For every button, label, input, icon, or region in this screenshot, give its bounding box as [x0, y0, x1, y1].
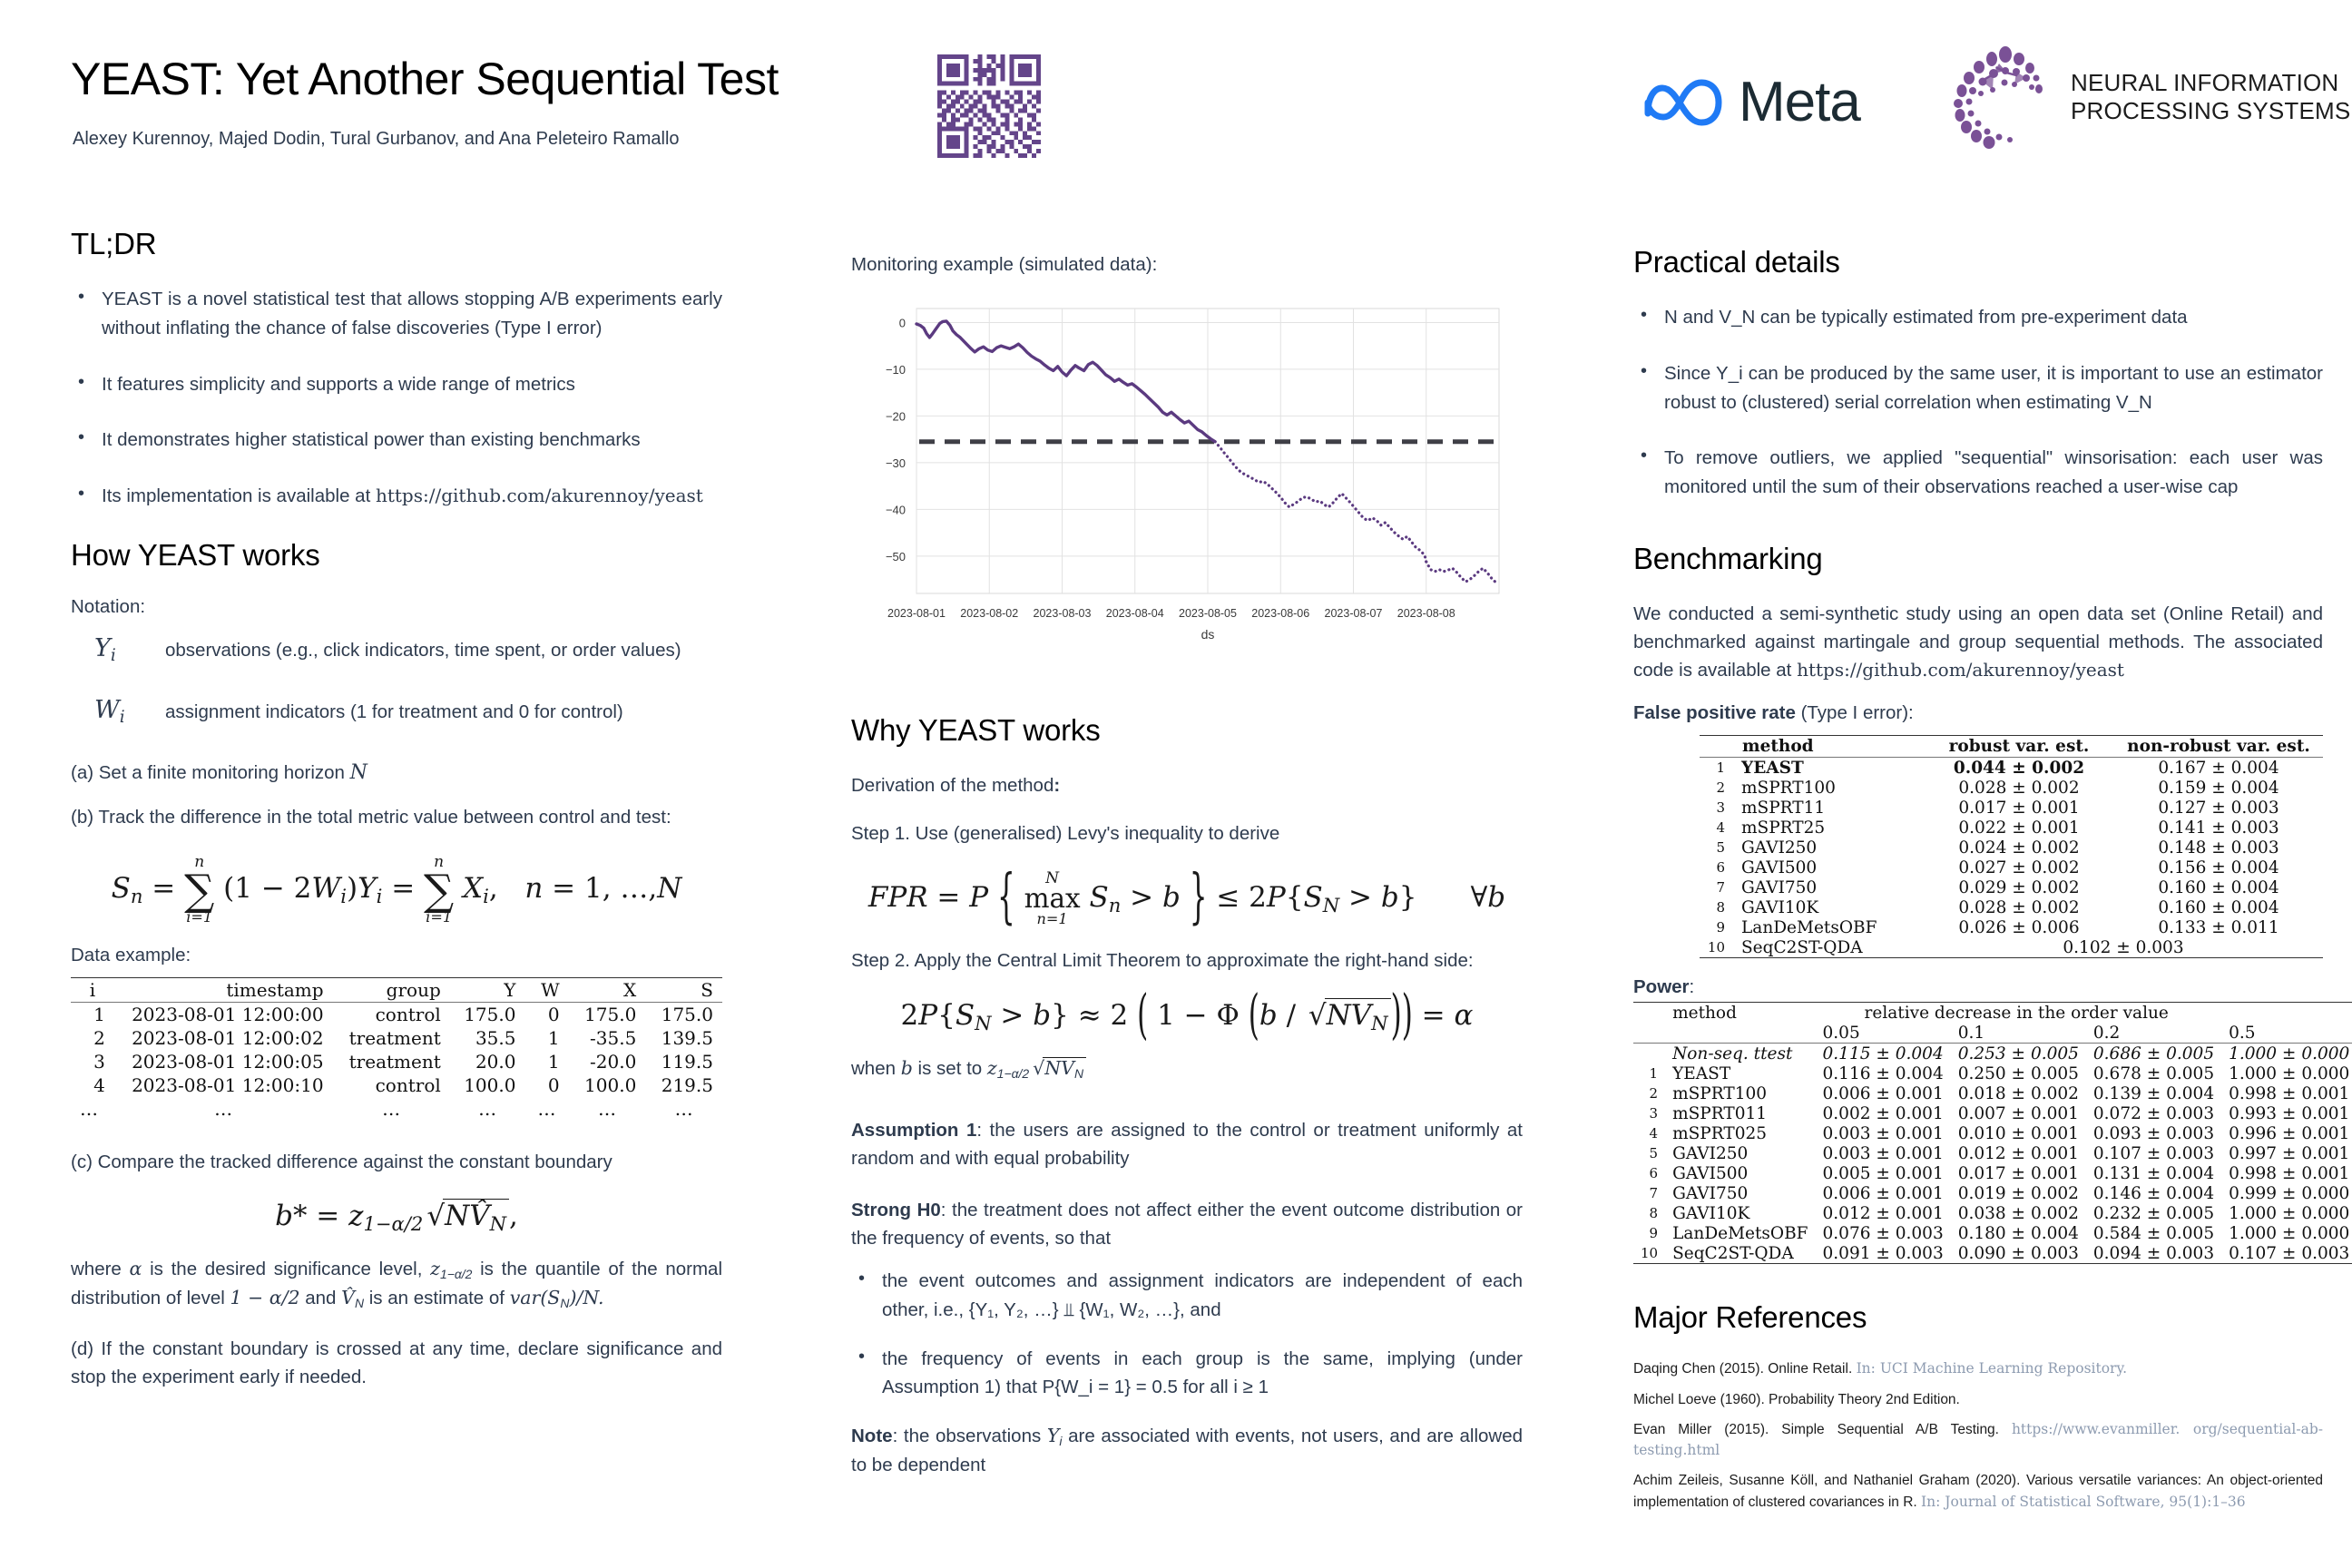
notation-label: Notation: [71, 596, 722, 618]
middle-column: Monitoring example (simulated data): 0−1… [851, 254, 1523, 1494]
monitoring-chart: 0−10−20−30−40−502023-08-012023-08-022023… [851, 292, 1523, 682]
section-heading-why-yeast-works: Why YEAST works [851, 713, 1523, 748]
row-index: 5 [1700, 838, 1733, 857]
cell-value-0.05: 0.012 ± 0.001 [1816, 1203, 1951, 1223]
svg-text:2023-08-02: 2023-08-02 [960, 607, 1018, 620]
cell-method: GAVI750 [1665, 1183, 1815, 1203]
cell-method: GAVI10K [1665, 1203, 1815, 1223]
cell-value-0.1: 0.038 ± 0.002 [1951, 1203, 2086, 1223]
chart-xlabel: ds [1201, 627, 1215, 642]
row-index: 3 [1700, 798, 1733, 818]
cell-value-0.05: 0.115 ± 0.004 [1816, 1044, 1951, 1064]
row-index: 9 [1700, 917, 1733, 937]
row-index: 6 [1700, 857, 1733, 877]
row-index: 4 [1700, 818, 1733, 838]
table-header-row-sub: 0.05 0.1 0.2 0.5 [1633, 1023, 2352, 1044]
table-row: 1YEAST0.116 ± 0.0040.250 ± 0.0050.678 ± … [1633, 1063, 2352, 1083]
col-robust-var: robust var. est. [1924, 736, 2114, 758]
cell-nonrobust: 0.159 ± 0.004 [2114, 778, 2323, 798]
practical-bullet-list: N and V_N can be typically estimated fro… [1633, 303, 2323, 502]
notation-desc-y: observations (e.g., click indicators, ti… [165, 640, 681, 661]
table-row: 3mSPRT0110.002 ± 0.0010.007 ± 0.0010.072… [1633, 1103, 2352, 1123]
row-index: 9 [1633, 1223, 1665, 1243]
table-row: 4mSPRT250.022 ± 0.0010.141 ± 0.003 [1700, 818, 2323, 838]
svg-text:2023-08-01: 2023-08-01 [887, 607, 946, 620]
cell-value-0.2: 0.131 ± 0.004 [2086, 1163, 2221, 1183]
cell-value-0.5: 1.000 ± 0.000 [2221, 1063, 2352, 1083]
right-column: Practical details N and V_N can be typic… [1633, 245, 2323, 1522]
svg-text:2023-08-07: 2023-08-07 [1325, 607, 1383, 620]
page-title: YEAST: Yet Another Sequential Test [71, 53, 779, 105]
cell-method: GAVI250 [1733, 838, 1924, 857]
list-item: Since Y_i can be produced by the same us… [1633, 359, 2323, 417]
step-d-text: (d) If the constant boundary is crossed … [71, 1335, 722, 1391]
cell-robust: 0.028 ± 0.002 [1924, 897, 2114, 917]
row-index: 3 [1633, 1103, 1665, 1123]
col-method: method [1733, 736, 1924, 758]
cell-method: GAVI500 [1733, 857, 1924, 877]
svg-text:−20: −20 [886, 409, 906, 423]
where-clause-text: where α is the desired significance leve… [71, 1255, 722, 1313]
data-example-label: Data example: [71, 945, 722, 966]
horizon-symbol-n: N [350, 761, 367, 784]
list-item: YEAST is a novel statistical test that a… [71, 285, 722, 343]
cell-value-0.2: 0.072 ± 0.003 [2086, 1103, 2221, 1123]
cell-value-0.2: 0.139 ± 0.004 [2086, 1083, 2221, 1103]
cell-robust: 0.044 ± 0.002 [1924, 758, 2114, 779]
cell-value-0.1: 0.012 ± 0.001 [1951, 1143, 2086, 1163]
cell-value-0.1: 0.007 ± 0.001 [1951, 1103, 2086, 1123]
cell-method: GAVI500 [1665, 1163, 1815, 1183]
col-timestamp: timestamp [114, 978, 333, 1003]
cell-value-0.5: 0.993 ± 0.001 [2221, 1103, 2352, 1123]
cell-robust: 0.017 ± 0.001 [1924, 798, 2114, 818]
data-example-table: i timestamp group Y W X S 1 2023-08-01 1… [71, 977, 722, 1121]
cell-value-0.5: 1.000 ± 0.000 [2221, 1203, 2352, 1223]
neurips-line-1: NEURAL INFORMATION [2071, 69, 2350, 97]
cell-value-0.2: 0.232 ± 0.005 [2086, 1203, 2221, 1223]
cell-value-0.05: 0.002 ± 0.001 [1816, 1103, 1951, 1123]
formula-clt: 2P{SN > b} ≈ 2 ( 1 − Φ (b / √NVN)) = α [851, 999, 1523, 1034]
row-index: 8 [1700, 897, 1733, 917]
cell-span: 0.102 ± 0.003 [1924, 937, 2323, 958]
strong-h0-text: Strong H0: the treatment does not affect… [851, 1196, 1523, 1252]
cell-value-0.1: 0.019 ± 0.002 [1951, 1183, 2086, 1203]
row-index: 8 [1633, 1203, 1665, 1223]
cell-value-0.5: 1.000 ± 0.000 [2221, 1223, 2352, 1243]
cell-value-0.2: 0.686 ± 0.005 [2086, 1044, 2221, 1064]
reference-link[interactable]: In: UCI Machine Learning Repository. [1857, 1360, 2128, 1377]
derivation-label: Derivation of the method: [851, 771, 1523, 799]
cell-value-0.05: 0.076 ± 0.003 [1816, 1223, 1951, 1243]
notation-symbol-y: Yi [71, 634, 165, 665]
cell-method: mSPRT025 [1665, 1123, 1815, 1143]
cell-value-0.2: 0.093 ± 0.003 [2086, 1123, 2221, 1143]
cell-value-0.1: 0.010 ± 0.001 [1951, 1123, 2086, 1143]
formula-sn: Sn = n∑i=1 (1 − 2Wi)Yi = n∑i=1 Xi, n = 1… [71, 855, 722, 925]
svg-text:−40: −40 [886, 503, 906, 516]
tldr-impl-prefix: Its implementation is available at [102, 485, 376, 506]
notation-desc-w: assignment indicators (1 for treatment a… [165, 701, 623, 723]
reference-item: Michel Loeve (1960). Probability Theory … [1633, 1389, 2323, 1410]
col-0-1: 0.1 [1951, 1023, 2086, 1044]
list-item: the event outcomes and assignment indica… [851, 1267, 1523, 1325]
table-row: 2 2023-08-01 12:00:02 treatment 35.5 1 -… [71, 1026, 722, 1050]
row-index [1633, 1044, 1665, 1064]
cell-nonrobust: 0.127 ± 0.003 [2114, 798, 2323, 818]
reference-item: Achim Zeileis, Susanne Köll, and Nathani… [1633, 1470, 2323, 1513]
chart-caption: Monitoring example (simulated data): [851, 254, 1523, 276]
row-index: 2 [1700, 778, 1733, 798]
false-positive-rate-table: method robust var. est. non-robust var. … [1700, 735, 2323, 958]
table-row: 10SeqC2ST-QDA0.102 ± 0.003 [1700, 937, 2323, 958]
svg-text:2023-08-06: 2023-08-06 [1251, 607, 1309, 620]
cell-nonrobust: 0.160 ± 0.004 [2114, 897, 2323, 917]
cell-nonrobust: 0.133 ± 0.011 [2114, 917, 2323, 937]
cell-method: SeqC2ST-QDA [1665, 1243, 1815, 1264]
notation-row-y: Yi observations (e.g., click indicators,… [71, 634, 722, 665]
table-row: 4 2023-08-01 12:00:10 control 100.0 0 10… [71, 1073, 722, 1097]
cell-value-0.05: 0.003 ± 0.001 [1816, 1123, 1951, 1143]
cell-method: LanDeMetsOBF [1733, 917, 1924, 937]
col-nonrobust-var: non-robust var. est. [2114, 736, 2323, 758]
cell-method: YEAST [1665, 1063, 1815, 1083]
cell-robust: 0.022 ± 0.001 [1924, 818, 2114, 838]
notation-row-w: Wi assignment indicators (1 for treatmen… [71, 696, 722, 727]
table-row: 6GAVI5000.005 ± 0.0010.017 ± 0.0010.131 … [1633, 1163, 2352, 1183]
svg-text:−50: −50 [886, 550, 906, 563]
col-x: X [569, 978, 646, 1003]
table-row: 5GAVI2500.003 ± 0.0010.012 ± 0.0010.107 … [1633, 1143, 2352, 1163]
cell-method: GAVI750 [1733, 877, 1924, 897]
step-c-text: (c) Compare the tracked difference again… [71, 1148, 722, 1176]
notation-list: Yi observations (e.g., click indicators,… [71, 634, 722, 727]
table-header-row: method robust var. est. non-robust var. … [1700, 736, 2323, 758]
table-row: 9LanDeMetsOBF0.026 ± 0.0060.133 ± 0.011 [1700, 917, 2323, 937]
cell-value-0.2: 0.146 ± 0.004 [2086, 1183, 2221, 1203]
cell-value-0.5: 0.997 ± 0.001 [2221, 1143, 2352, 1163]
svg-text:2023-08-04: 2023-08-04 [1106, 607, 1164, 620]
cell-value-0.2: 0.094 ± 0.003 [2086, 1243, 2221, 1264]
svg-text:−30: −30 [886, 456, 906, 470]
cell-value-0.2: 0.678 ± 0.005 [2086, 1063, 2221, 1083]
reference-link[interactable]: In: Journal of Statistical Software, 95(… [1921, 1494, 2246, 1510]
note-text: Note: the observations Yi are associated… [851, 1422, 1523, 1479]
cell-method: mSPRT100 [1733, 778, 1924, 798]
table-row: 8GAVI10K0.012 ± 0.0010.038 ± 0.0020.232 … [1633, 1203, 2352, 1223]
cell-value-0.1: 0.017 ± 0.001 [1951, 1163, 2086, 1183]
tldr-bullet-list: YEAST is a novel statistical test that a… [71, 285, 722, 511]
cell-method: SeqC2ST-QDA [1733, 937, 1924, 958]
poster-root: YEAST: Yet Another Sequential Test Alexe… [0, 0, 2352, 1568]
fpr-table-wrap: method robust var. est. non-robust var. … [1633, 735, 2323, 958]
row-index: 10 [1633, 1243, 1665, 1264]
list-item: To remove outliers, we applied "sequenti… [1633, 444, 2323, 502]
row-index: 4 [1633, 1123, 1665, 1143]
reference-citation: Evan Miller (2015). Simple Sequential A/… [1633, 1422, 2012, 1437]
cell-nonrobust: 0.160 ± 0.004 [2114, 877, 2323, 897]
list-item: the frequency of events in each group is… [851, 1345, 1523, 1403]
section-heading-benchmarking: Benchmarking [1633, 542, 2323, 576]
col-0-2: 0.2 [2086, 1023, 2221, 1044]
col-group-header: relative decrease in the order value [1816, 1003, 2352, 1024]
cell-value-0.5: 0.998 ± 0.001 [2221, 1083, 2352, 1103]
author-list: Alexey Kurennoy, Majed Dodin, Tural Gurb… [73, 129, 680, 150]
col-y: Y [450, 978, 525, 1003]
cell-robust: 0.029 ± 0.002 [1924, 877, 2114, 897]
formula-fpr: FPR = P { Nmaxn=1 Sn > b } ≤ 2P{SN > b} … [851, 871, 1523, 926]
table-row: 3mSPRT110.017 ± 0.0010.127 ± 0.003 [1700, 798, 2323, 818]
meta-infinity-icon [1642, 77, 1724, 128]
cell-value-0.1: 0.253 ± 0.005 [1951, 1044, 2086, 1064]
section-heading-major-references: Major References [1633, 1300, 2323, 1335]
row-index: 2 [1633, 1083, 1665, 1103]
table-row: 7GAVI7500.006 ± 0.0010.019 ± 0.0020.146 … [1633, 1183, 2352, 1203]
cell-method: GAVI10K [1733, 897, 1924, 917]
table-row: 1YEAST0.044 ± 0.0020.167 ± 0.004 [1700, 758, 2323, 779]
col-0-5: 0.5 [2221, 1023, 2352, 1044]
table-row: 4mSPRT0250.003 ± 0.0010.010 ± 0.0010.093… [1633, 1123, 2352, 1143]
section-heading-practical-details: Practical details [1633, 245, 2323, 279]
row-index: 7 [1700, 877, 1733, 897]
cell-robust: 0.026 ± 0.006 [1924, 917, 2114, 937]
cell-value-0.5: 1.000 ± 0.000 [2221, 1044, 2352, 1064]
cell-method: GAVI250 [1665, 1143, 1815, 1163]
power-table: method relative decrease in the order va… [1633, 1002, 2352, 1264]
step-a-text: (a) Set a finite monitoring horizon N [71, 758, 722, 788]
table-row: 1 2023-08-01 12:00:00 control 175.0 0 17… [71, 1003, 722, 1027]
section-heading-tldr: TL;DR [71, 227, 722, 261]
power-label: Power: [1633, 976, 2323, 998]
cell-value-0.1: 0.250 ± 0.005 [1951, 1063, 2086, 1083]
cell-value-0.5: 0.107 ± 0.003 [2221, 1243, 2352, 1264]
h0-bullet-list: the event outcomes and assignment indica… [851, 1267, 1523, 1402]
neurips-wordmark: NEURAL INFORMATION PROCESSING SYSTEMS [2071, 69, 2350, 124]
step-2-text: Step 2. Apply the Central Limit Theorem … [851, 946, 1523, 975]
poster-header: YEAST: Yet Another Sequential Test Alexe… [0, 0, 2352, 181]
svg-text:2023-08-03: 2023-08-03 [1034, 607, 1092, 620]
cell-robust: 0.024 ± 0.002 [1924, 838, 2114, 857]
qr-code-icon [916, 50, 1062, 162]
table-header-row: i timestamp group Y W X S [71, 978, 722, 1003]
row-index: 6 [1633, 1163, 1665, 1183]
when-b-text: when b is set to z1−α/2√NVN [851, 1054, 1523, 1083]
reference-item: Evan Miller (2015). Simple Sequential A/… [1633, 1419, 2323, 1462]
cell-method: LanDeMetsOBF [1665, 1223, 1815, 1243]
row-index: 5 [1633, 1143, 1665, 1163]
list-item: It features simplicity and supports a wi… [71, 370, 722, 399]
neurips-line-2: PROCESSING SYSTEMS [2071, 97, 2350, 125]
table-row: 3 2023-08-01 12:00:05 treatment 20.0 1 -… [71, 1050, 722, 1073]
cell-value-0.1: 0.090 ± 0.003 [1951, 1243, 2086, 1264]
table-row: 9LanDeMetsOBF0.076 ± 0.0030.180 ± 0.0040… [1633, 1223, 2352, 1243]
cell-nonrobust: 0.167 ± 0.004 [2114, 758, 2323, 779]
cell-nonrobust: 0.156 ± 0.004 [2114, 857, 2323, 877]
meta-logo: Meta [1642, 74, 1860, 131]
col-s: S [645, 978, 722, 1003]
cell-method: mSPRT100 [1665, 1083, 1815, 1103]
notation-symbol-w: Wi [71, 696, 165, 727]
table-header-row-group: method relative decrease in the order va… [1633, 1003, 2352, 1024]
table-row: 6GAVI5000.027 ± 0.0020.156 ± 0.004 [1700, 857, 2323, 877]
svg-text:2023-08-05: 2023-08-05 [1179, 607, 1237, 620]
cell-value-0.2: 0.107 ± 0.003 [2086, 1143, 2221, 1163]
list-item: N and V_N can be typically estimated fro… [1633, 303, 2323, 332]
table-row: Non-seq. ttest0.115 ± 0.0040.253 ± 0.005… [1633, 1044, 2352, 1064]
cell-value-0.5: 0.999 ± 0.000 [2221, 1183, 2352, 1203]
row-index: 1 [1700, 758, 1733, 779]
cell-value-0.05: 0.116 ± 0.004 [1816, 1063, 1951, 1083]
col-i: i [71, 978, 114, 1003]
col-method: method [1665, 1003, 1815, 1024]
svg-text:0: 0 [899, 316, 906, 329]
cell-value-0.5: 0.998 ± 0.001 [2221, 1163, 2352, 1183]
table-row: 2mSPRT1000.028 ± 0.0020.159 ± 0.004 [1700, 778, 2323, 798]
step-b-text: (b) Track the difference in the total me… [71, 803, 722, 831]
table-row: 5GAVI2500.024 ± 0.0020.148 ± 0.003 [1700, 838, 2323, 857]
cell-value-0.05: 0.091 ± 0.003 [1816, 1243, 1951, 1264]
section-heading-how-yeast-works: How YEAST works [71, 538, 722, 573]
cell-method: mSPRT011 [1665, 1103, 1815, 1123]
github-url-link[interactable]: https://github.com/akurennoy/yeast [376, 485, 703, 506]
reference-citation: Daqing Chen (2015). Online Retail. [1633, 1361, 1857, 1377]
col-group: group [333, 978, 450, 1003]
list-item: Its implementation is available at https… [71, 482, 722, 511]
formula-b-star: b* = z1−α/2√NV̂N, [71, 1200, 722, 1235]
cell-value-0.05: 0.003 ± 0.001 [1816, 1143, 1951, 1163]
left-column: TL;DR YEAST is a novel statistical test … [71, 227, 722, 1406]
cell-method: YEAST [1733, 758, 1924, 779]
reference-list: Daqing Chen (2015). Online Retail. In: U… [1633, 1358, 2323, 1513]
cell-value-0.5: 0.996 ± 0.001 [2221, 1123, 2352, 1143]
cell-nonrobust: 0.141 ± 0.003 [2114, 818, 2323, 838]
neurips-logo: NEURAL INFORMATION PROCESSING SYSTEMS [1942, 44, 2350, 151]
cell-value-0.05: 0.005 ± 0.001 [1816, 1163, 1951, 1183]
neurips-swirl-icon [1942, 44, 2058, 151]
svg-text:2023-08-08: 2023-08-08 [1397, 607, 1455, 620]
cell-value-0.1: 0.018 ± 0.002 [1951, 1083, 2086, 1103]
cell-robust: 0.028 ± 0.002 [1924, 778, 2114, 798]
cell-method: mSPRT11 [1733, 798, 1924, 818]
table-row: 7GAVI7500.029 ± 0.0020.160 ± 0.004 [1700, 877, 2323, 897]
reference-citation: Michel Loeve (1960). Probability Theory … [1633, 1392, 1960, 1407]
cell-method: Non-seq. ttest [1665, 1044, 1815, 1064]
reference-item: Daqing Chen (2015). Online Retail. In: U… [1633, 1358, 2323, 1379]
row-index: 10 [1700, 937, 1733, 958]
assumption-1-text: Assumption 1: the users are assigned to … [851, 1116, 1523, 1172]
benchmark-github-url[interactable]: https://github.com/akurennoy/yeast [1797, 659, 2124, 681]
meta-wordmark: Meta [1739, 74, 1860, 131]
step-1-text: Step 1. Use (generalised) Levy's inequal… [851, 819, 1523, 848]
col-0-05: 0.05 [1816, 1023, 1951, 1044]
col-w: W [524, 978, 568, 1003]
table-row: 8GAVI10K0.028 ± 0.0020.160 ± 0.004 [1700, 897, 2323, 917]
cell-method: mSPRT25 [1733, 818, 1924, 838]
cell-value-0.05: 0.006 ± 0.001 [1816, 1183, 1951, 1203]
svg-text:−10: −10 [886, 363, 906, 377]
cell-robust: 0.027 ± 0.002 [1924, 857, 2114, 877]
list-item: It demonstrates higher statistical power… [71, 426, 722, 455]
row-index: 7 [1633, 1183, 1665, 1203]
cell-value-0.05: 0.006 ± 0.001 [1816, 1083, 1951, 1103]
row-index: 1 [1633, 1063, 1665, 1083]
fpr-label: False positive rate (Type I error): [1633, 702, 2323, 724]
benchmarking-text: We conducted a semi-synthetic study usin… [1633, 600, 2323, 684]
cell-value-0.1: 0.180 ± 0.004 [1951, 1223, 2086, 1243]
table-row: 10SeqC2ST-QDA0.091 ± 0.0030.090 ± 0.0030… [1633, 1243, 2352, 1264]
cell-value-0.2: 0.584 ± 0.005 [2086, 1223, 2221, 1243]
table-row-ellipsis: … … … … … … … [71, 1097, 722, 1121]
cell-nonrobust: 0.148 ± 0.003 [2114, 838, 2323, 857]
table-row: 2mSPRT1000.006 ± 0.0010.018 ± 0.0020.139… [1633, 1083, 2352, 1103]
